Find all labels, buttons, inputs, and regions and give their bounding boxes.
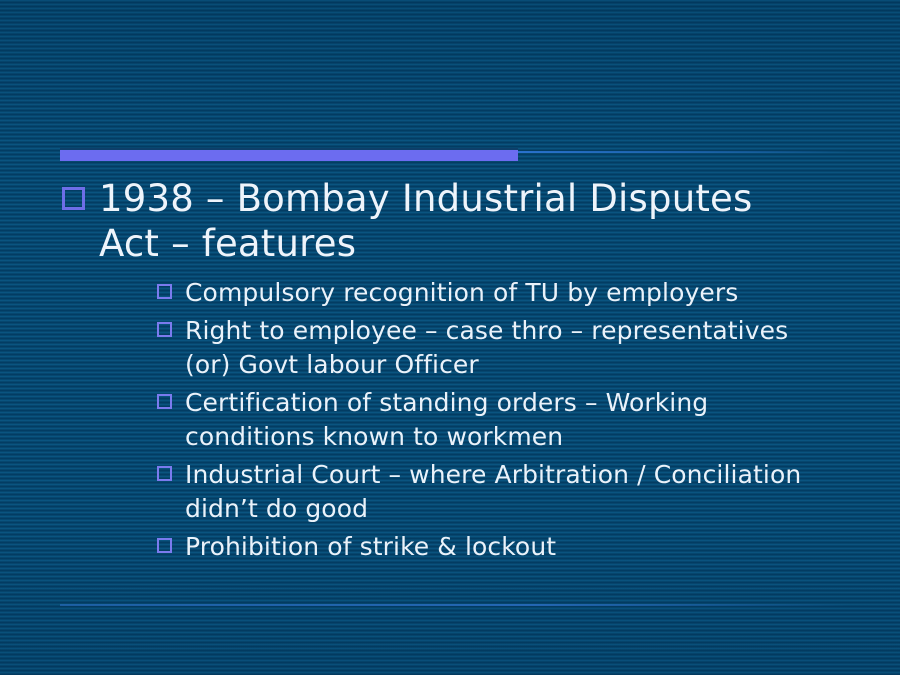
bullet-list: Compulsory recognition of TU by employer… <box>157 276 857 568</box>
list-item: Industrial Court – where Arbitration / C… <box>157 458 857 526</box>
hollow-square-bullet-icon <box>157 322 172 337</box>
list-item-text: Industrial Court – where Arbitration / C… <box>185 458 835 526</box>
list-item: Prohibition of strike & lockout <box>157 530 857 564</box>
slide-content: 1938 – Bombay Industrial Disputes Act – … <box>0 0 900 675</box>
hollow-square-bullet-icon <box>157 538 172 553</box>
list-item: Compulsory recognition of TU by employer… <box>157 276 857 310</box>
list-item-text: Certification of standing orders – Worki… <box>185 386 835 454</box>
list-item: Right to employee – case thro – represen… <box>157 314 857 382</box>
hollow-square-bullet-icon <box>157 284 172 299</box>
list-item-text: Right to employee – case thro – represen… <box>185 314 835 382</box>
slide-title-block: 1938 – Bombay Industrial Disputes Act – … <box>62 176 852 266</box>
list-item-text: Compulsory recognition of TU by employer… <box>185 276 835 310</box>
hollow-square-bullet-icon <box>157 466 172 481</box>
hollow-square-bullet-icon <box>62 187 85 210</box>
list-item: Certification of standing orders – Worki… <box>157 386 857 454</box>
list-item-text: Prohibition of strike & lockout <box>185 530 835 564</box>
hollow-square-bullet-icon <box>157 394 172 409</box>
slide-canvas: 1938 – Bombay Industrial Disputes Act – … <box>0 0 900 675</box>
slide-title-text: 1938 – Bombay Industrial Disputes Act – … <box>99 176 779 266</box>
